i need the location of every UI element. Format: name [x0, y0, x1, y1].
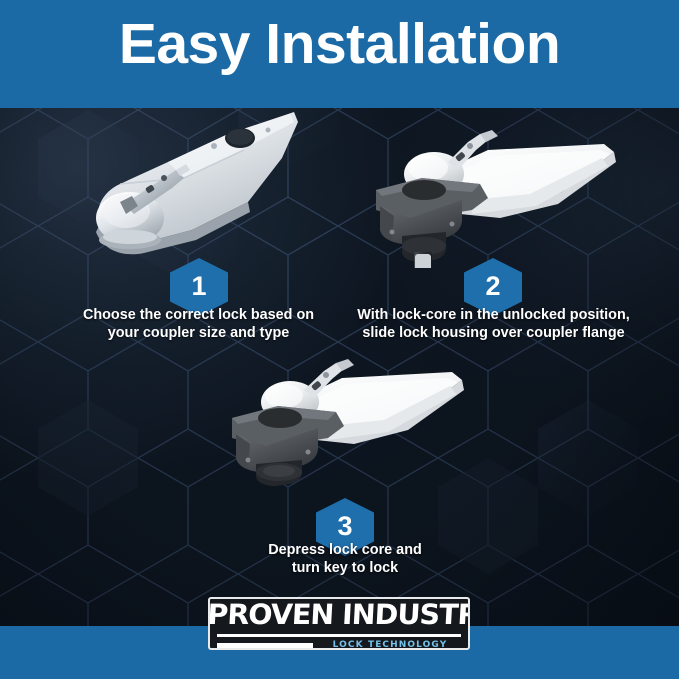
- page-title: Easy Installation: [0, 16, 679, 73]
- step-1-caption: Choose the correct lock based on your co…: [56, 307, 341, 342]
- step-3-caption-line-1: Depress lock core and: [215, 542, 475, 560]
- step-2-caption: With lock-core in the unlocked position,…: [342, 307, 645, 342]
- step-2-caption-line-1: With lock-core in the unlocked position,: [342, 307, 645, 325]
- brand-tagline: LOCK TECHNOLOGY: [313, 641, 461, 650]
- brand-logo: PROVEN INDUSTRIES LOCK TECHNOLOGY: [208, 597, 470, 650]
- brand-name: PROVEN INDUSTRIES: [208, 600, 470, 629]
- logo-accent-bar: [217, 643, 313, 648]
- logo-divider: [217, 634, 461, 637]
- step-2-caption-line-2: slide lock housing over coupler flange: [342, 325, 645, 343]
- header-banner: Easy Installation: [0, 0, 679, 108]
- infographic-canvas: Easy Installation: [0, 0, 679, 679]
- logo-tagline-row: LOCK TECHNOLOGY: [217, 640, 461, 650]
- step-3-caption-line-2: turn key to lock: [215, 560, 475, 578]
- step-1-caption-line-1: Choose the correct lock based on: [56, 307, 341, 325]
- step-1-caption-line-2: your coupler size and type: [56, 325, 341, 343]
- step-3-caption: Depress lock core and turn key to lock: [215, 542, 475, 577]
